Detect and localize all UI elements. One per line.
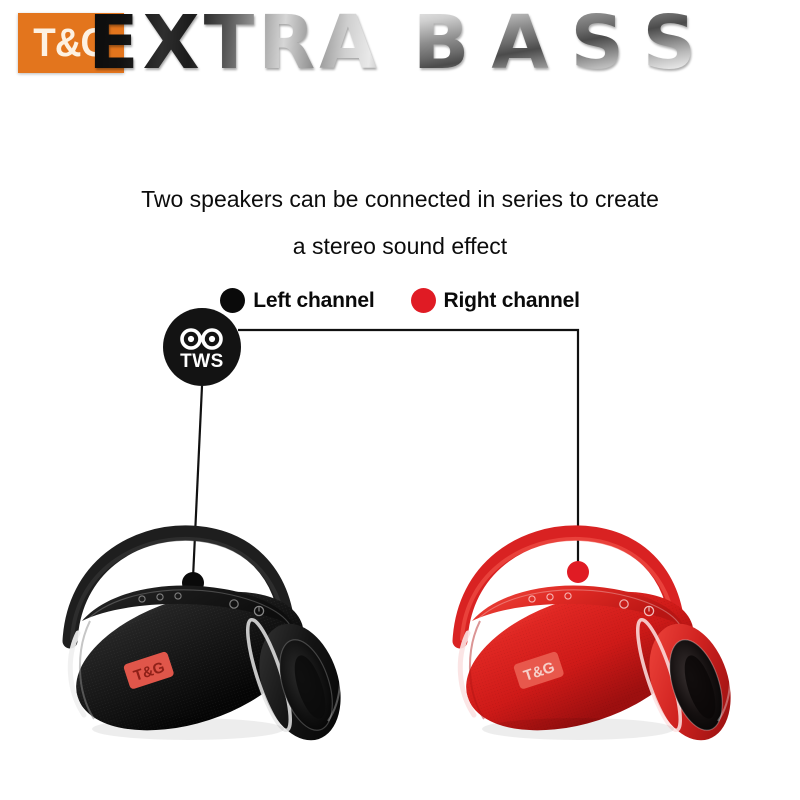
subtitle: Two speakers can be connected in series … xyxy=(0,176,800,270)
legend-label-left: Left channel xyxy=(253,289,374,313)
product-image-black-speaker: T&G xyxy=(38,515,378,765)
subtitle-line-2: a stereo sound effect xyxy=(0,223,800,270)
infinity-rings-icon xyxy=(179,328,225,350)
tws-badge: TWS xyxy=(163,308,241,386)
subtitle-line-1: Two speakers can be connected in series … xyxy=(0,176,800,223)
legend-item-left-channel: Left channel xyxy=(220,288,374,313)
channel-legend: Left channel Right channel xyxy=(0,288,800,313)
legend-dot-red-icon xyxy=(411,288,436,313)
headline-extra: EXTRA xyxy=(82,6,386,80)
legend-label-right: Right channel xyxy=(444,289,580,313)
brand-logo: T&G xyxy=(18,13,124,73)
legend-dot-black-icon xyxy=(220,288,245,313)
tws-badge-label: TWS xyxy=(180,352,224,371)
product-image-red-speaker: T&G xyxy=(428,515,768,765)
headline-bass: BASS xyxy=(391,6,718,80)
legend-item-right-channel: Right channel xyxy=(411,288,580,313)
brand-logo-text: T&G xyxy=(34,21,109,66)
